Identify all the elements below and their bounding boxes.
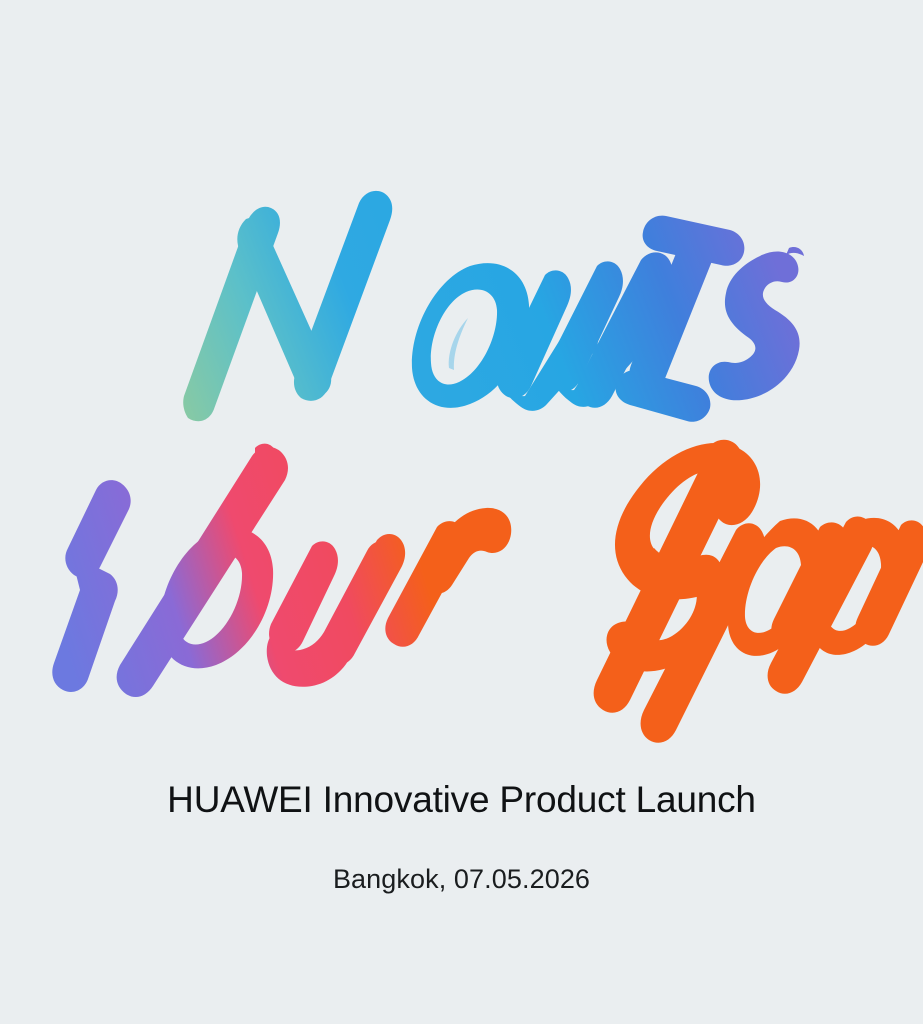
hero-line2-glyphs-tail [768, 516, 875, 693]
hero-line2-glyphs [52, 440, 923, 743]
event-location-date: Bangkok, 07.05.2026 [0, 822, 923, 895]
hero-lockup: Now Is Your Spark [0, 0, 923, 760]
hero-script-artwork [0, 0, 923, 760]
hero-text-line1: Now Is [0, 0, 1, 1]
hero-text-line2: Your Spark [0, 0, 1, 1]
hero-line1-glyphs [183, 191, 804, 422]
footer-block: HUAWEI Innovative Product Launch Bangkok… [0, 760, 923, 895]
page-title: HUAWEI Innovative Product Launch [0, 760, 923, 822]
launch-poster: Now Is Your Spark [0, 0, 923, 1024]
